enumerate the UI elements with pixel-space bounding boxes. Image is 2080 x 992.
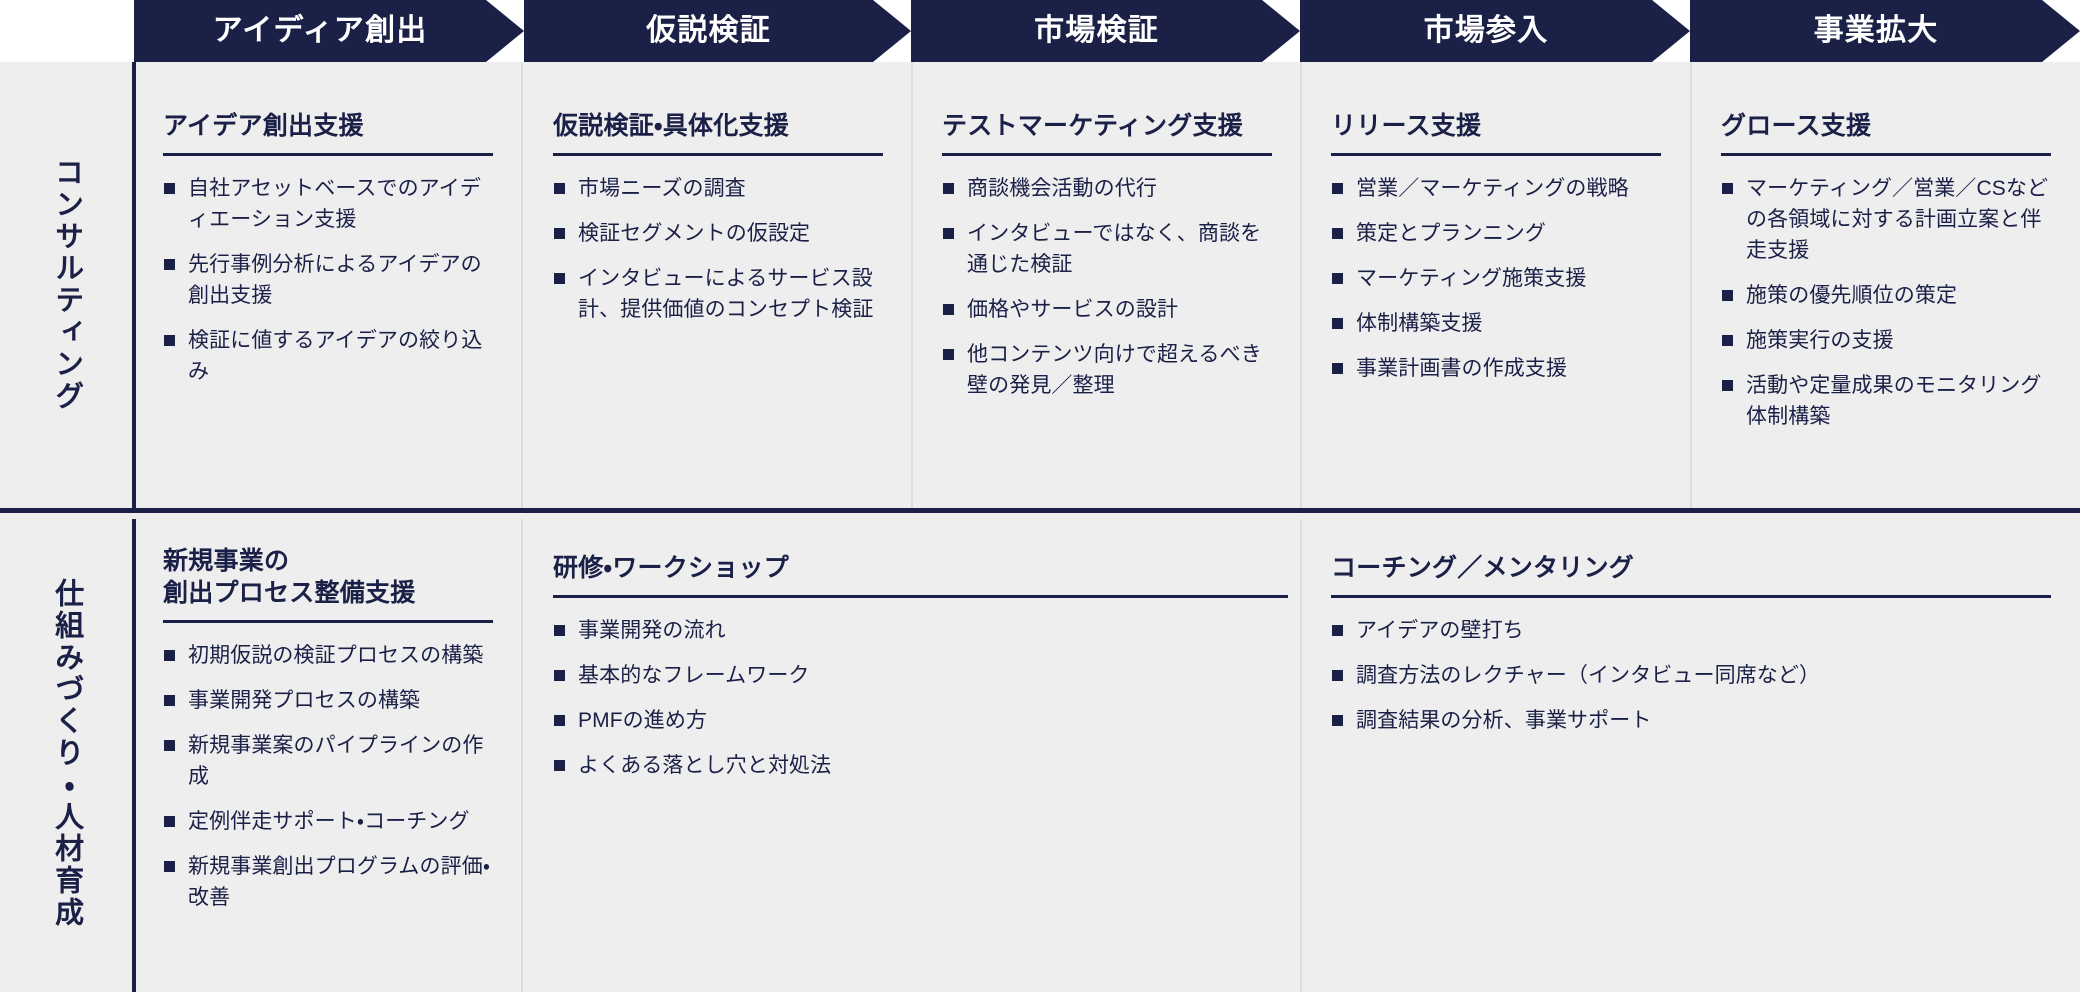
card-title: 新規事業の 創出プロセス整備支援 <box>163 545 493 609</box>
card-underline <box>1331 153 1661 156</box>
column-divider-1 <box>521 62 523 508</box>
list-item: 先行事例分析によるアイデアの創出支援 <box>163 249 493 311</box>
phase-header-band: アイディア創出 仮説検証 市場検証 市場参入 事業拡大 <box>0 0 2080 62</box>
list-item: 商談機会活動の代行 <box>942 173 1272 204</box>
card-training-workshop[interactable]: 研修・ワークショップ 事業開発の流れ 基本的なフレームワーク PMFの進め方 よ… <box>553 552 1288 781</box>
phase-chevron-market-entry[interactable]: 市場参入 <box>1300 0 1690 62</box>
list-item: 新規事業案のパイプラインの作成 <box>163 730 493 792</box>
card-growth-support[interactable]: グロース支援 マーケティング／営業／CSなどの各領域に対する計画立案と伴走支援 … <box>1721 110 2051 433</box>
list-item: アイデアの壁打ち <box>1331 615 2051 646</box>
list-item: 基本的なフレームワーク <box>553 660 1288 691</box>
list-item: 市場ニーズの調査 <box>553 173 883 204</box>
phase-chevron-idea-generation[interactable]: アイディア創出 <box>134 0 524 62</box>
row-rail-consulting: コンサルティング <box>0 62 133 508</box>
card-hypothesis-validation-support[interactable]: 仮説検証・具体化支援 市場ニーズの調査 検証セグメントの仮設定 インタビューによ… <box>553 110 883 325</box>
list-item: 調査方法のレクチャー（インタビュー同席など） <box>1331 660 2051 691</box>
column-divider-2 <box>911 62 913 508</box>
list-item: 施策実行の支援 <box>1721 325 2051 356</box>
card-idea-generation-support[interactable]: アイデア創出支援 自社アセットベースでのアイディエーション支援 先行事例分析によ… <box>163 110 493 387</box>
list-item: 検証セグメントの仮設定 <box>553 218 883 249</box>
list-item: マーケティング施策支援 <box>1331 263 1661 294</box>
phase-label: 市場検証 <box>1034 16 1159 46</box>
list-item: 事業計画書の作成支援 <box>1331 353 1661 384</box>
list-item: 事業開発プロセスの構築 <box>163 685 493 716</box>
card-bullet-list: 営業／マーケティングの戦略 策定とプランニング マーケティング施策支援 体制構築… <box>1331 173 1661 384</box>
list-item: マーケティング／営業／CSなどの各領域に対する計画立案と伴走支援 <box>1721 173 2051 266</box>
list-item: 新規事業創出プログラムの評価・改善 <box>163 851 493 913</box>
column-divider-4 <box>1690 62 1692 508</box>
rail-divider-bottom <box>132 519 136 992</box>
list-item: 自社アセットベースでのアイディエーション支援 <box>163 173 493 235</box>
column-divider-3 <box>1300 62 1302 508</box>
list-item: 価格やサービスの設計 <box>942 294 1272 325</box>
card-title: アイデア創出支援 <box>163 110 493 142</box>
list-item: 検証に値するアイデアの絞り込み <box>163 325 493 387</box>
card-new-business-process-support[interactable]: 新規事業の 創出プロセス整備支援 初期仮説の検証プロセスの構築 事業開発プロセス… <box>163 545 493 914</box>
list-item: 活動や定量成果のモニタリング体制構築 <box>1721 370 2051 432</box>
rail-divider-top <box>132 62 136 508</box>
list-item: 策定とプランニング <box>1331 218 1661 249</box>
card-title: リリース支援 <box>1331 110 1661 142</box>
phase-label: 事業拡大 <box>1814 16 1939 46</box>
card-bullet-list: 市場ニーズの調査 検証セグメントの仮設定 インタビューによるサービス設計、提供価… <box>553 173 883 325</box>
column-divider-5 <box>521 519 523 992</box>
card-bullet-list: 初期仮説の検証プロセスの構築 事業開発プロセスの構築 新規事業案のパイプラインの… <box>163 640 493 914</box>
card-bullet-list: 商談機会活動の代行 インタビューではなく、商談を通じた検証 価格やサービスの設計… <box>942 173 1272 401</box>
list-item: 営業／マーケティングの戦略 <box>1331 173 1661 204</box>
list-item: 他コンテンツ向けで超えるべき壁の発見／整理 <box>942 339 1272 401</box>
phase-label: アイディア創出 <box>213 16 428 46</box>
process-matrix-diagram: アイディア創出 仮説検証 市場検証 市場参入 事業拡大 コンサルティング 仕組み… <box>0 0 2080 992</box>
card-underline <box>553 595 1288 598</box>
row-label-enablement: 仕組みづくり・人材育成 <box>0 514 133 992</box>
list-item: 事業開発の流れ <box>553 615 1288 646</box>
card-bullet-list: 自社アセットベースでのアイディエーション支援 先行事例分析によるアイデアの創出支… <box>163 173 493 387</box>
card-bullet-list: アイデアの壁打ち 調査方法のレクチャー（インタビュー同席など） 調査結果の分析、… <box>1331 615 2051 736</box>
list-item: 調査結果の分析、事業サポート <box>1331 705 2051 736</box>
card-coaching-mentoring[interactable]: コーチング／メンタリング アイデアの壁打ち 調査方法のレクチャー（インタビュー同… <box>1331 552 2051 736</box>
list-item: 初期仮説の検証プロセスの構築 <box>163 640 493 671</box>
card-title: 仮説検証・具体化支援 <box>553 110 883 142</box>
card-title: 研修・ワークショップ <box>553 552 1288 584</box>
list-item: よくある落とし穴と対処法 <box>553 750 1288 781</box>
list-item: 体制構築支援 <box>1331 308 1661 339</box>
card-release-support[interactable]: リリース支援 営業／マーケティングの戦略 策定とプランニング マーケティング施策… <box>1331 110 1661 384</box>
list-item: 施策の優先順位の策定 <box>1721 280 2051 311</box>
list-item: インタビューによるサービス設計、提供価値のコンセプト検証 <box>553 263 883 325</box>
list-item: PMFの進め方 <box>553 705 1288 736</box>
card-bullet-list: マーケティング／営業／CSなどの各領域に対する計画立案と伴走支援 施策の優先順位… <box>1721 173 2051 433</box>
card-underline <box>942 153 1272 156</box>
phase-label: 仮説検証 <box>646 16 771 46</box>
phase-chevron-market-validation[interactable]: 市場検証 <box>911 0 1300 62</box>
row-divider <box>0 508 2080 513</box>
card-test-marketing-support[interactable]: テストマーケティング支援 商談機会活動の代行 インタビューではなく、商談を通じた… <box>942 110 1272 401</box>
phase-label: 市場参入 <box>1424 16 1549 46</box>
card-title: グロース支援 <box>1721 110 2051 142</box>
list-item: 定例伴走サポート・コーチング <box>163 806 493 837</box>
card-title: テストマーケティング支援 <box>942 110 1272 142</box>
row-label-consulting: コンサルティング <box>0 62 133 508</box>
phase-chevron-hypothesis-validation[interactable]: 仮説検証 <box>524 0 911 62</box>
column-divider-6 <box>1300 519 1302 992</box>
card-bullet-list: 事業開発の流れ 基本的なフレームワーク PMFの進め方 よくある落とし穴と対処法 <box>553 615 1288 781</box>
card-underline <box>1721 153 2051 156</box>
card-underline <box>163 153 493 156</box>
phase-chevron-business-expansion[interactable]: 事業拡大 <box>1690 0 2080 62</box>
card-underline <box>553 153 883 156</box>
row-rail-enablement: 仕組みづくり・人材育成 <box>0 514 133 992</box>
card-underline <box>1331 595 2051 598</box>
card-title: コーチング／メンタリング <box>1331 552 2051 584</box>
list-item: インタビューではなく、商談を通じた検証 <box>942 218 1272 280</box>
card-underline <box>163 620 493 623</box>
